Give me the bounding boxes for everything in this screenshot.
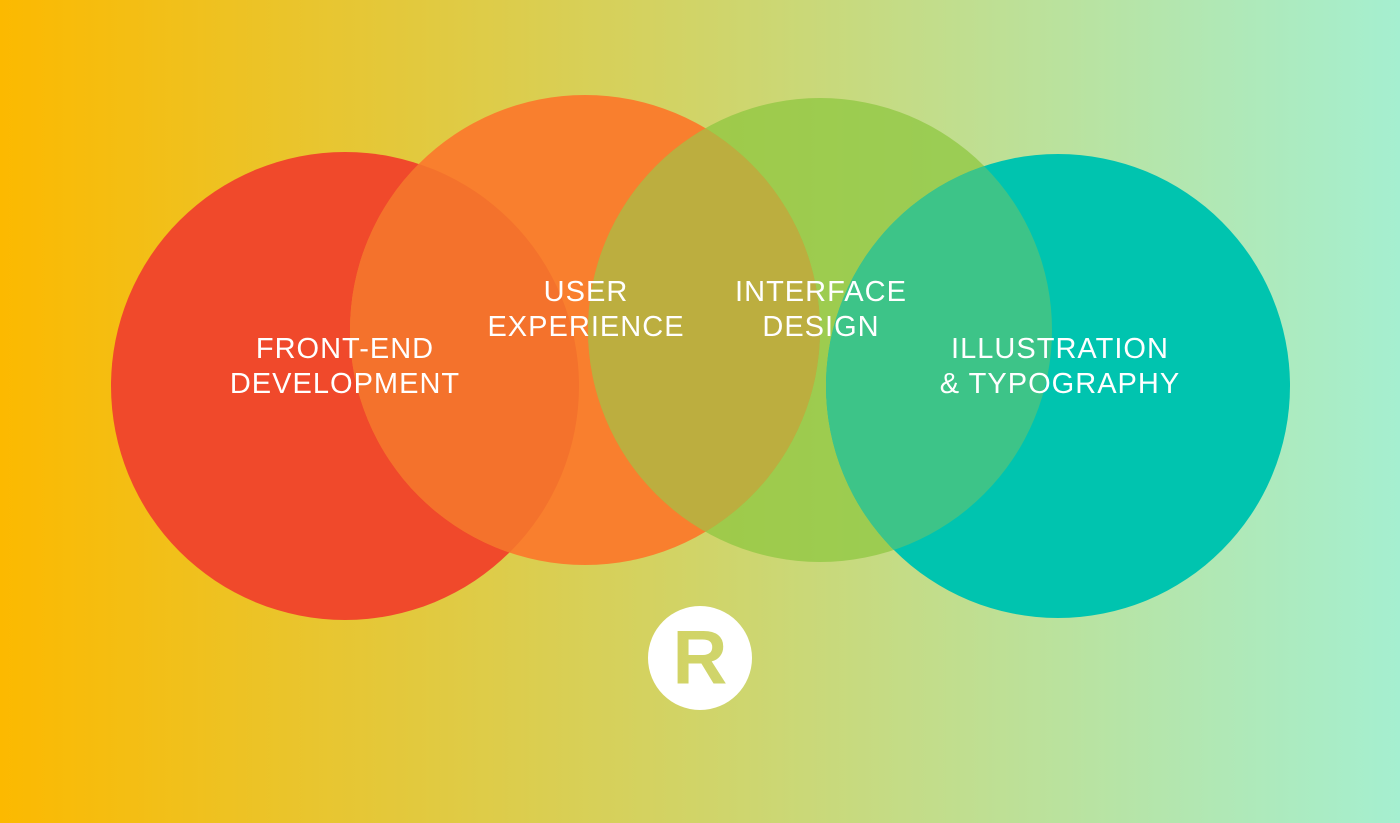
venn-diagram-canvas: R FRONT-END DEVELOPMENT USER EXPERIENCE … bbox=[0, 0, 1400, 823]
logo-badge-disc bbox=[647, 605, 753, 711]
logo-badge[interactable] bbox=[647, 605, 753, 711]
venn-circles-group: R bbox=[0, 0, 1400, 823]
